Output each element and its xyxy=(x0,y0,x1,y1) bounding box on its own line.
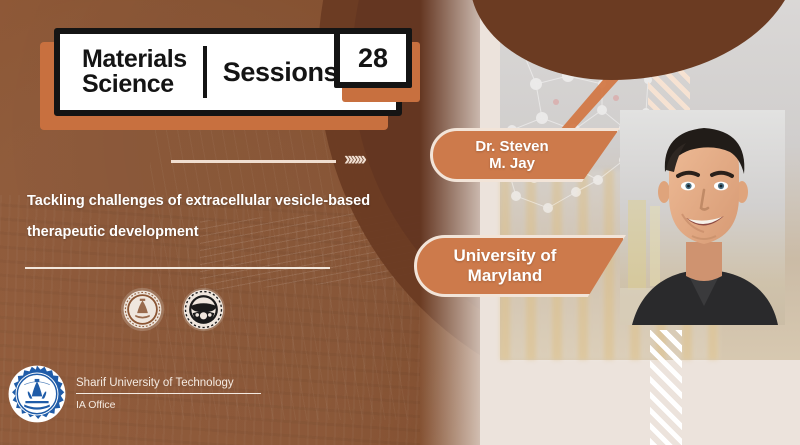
header-rule xyxy=(171,160,336,163)
talk-title-line-1: Tackling challenges of extracellular ves… xyxy=(27,186,417,217)
session-number-value: 28 xyxy=(358,43,388,74)
materials-science-sessions-logo: Materials Science Sessions 28 xyxy=(40,28,430,140)
talk-title: Tackling challenges of extracellular ves… xyxy=(27,186,417,248)
affiliation-line-2: Maryland xyxy=(454,266,557,286)
logo-right-text: Sessions xyxy=(223,57,338,88)
talk-title-line-2: therapeutic development xyxy=(27,217,417,248)
sharif-university-emblem xyxy=(120,287,165,332)
speaker-portrait xyxy=(620,110,785,325)
speaker-name-line-1: Dr. Steven xyxy=(475,138,548,155)
footer-organization: Sharif University of Technology xyxy=(76,377,261,393)
sharif-university-logo-icon xyxy=(8,365,66,423)
logo-divider xyxy=(203,46,207,98)
speaker-name-line-2: M. Jay xyxy=(475,155,548,172)
emblem-group xyxy=(120,287,226,332)
diagonal-stripes-bottom xyxy=(650,330,682,445)
logo-line-2: Science xyxy=(82,72,187,98)
chevron-right-icon: ›››››› xyxy=(344,150,364,169)
footer: Sharif University of Technology IA Offic… xyxy=(8,365,261,423)
logo-line-1: Materials xyxy=(82,47,187,73)
affiliation-line-1: University of xyxy=(454,246,557,266)
footer-text: Sharif University of Technology IA Offic… xyxy=(76,377,261,412)
materials-science-department-emblem xyxy=(181,287,226,332)
logo-left-text: Materials Science xyxy=(60,47,187,98)
footer-office: IA Office xyxy=(76,394,261,411)
title-divider xyxy=(25,267,330,269)
session-poster: Materials Science Sessions 28 ›››››› Tac… xyxy=(0,0,800,445)
session-number-badge: 28 xyxy=(334,28,412,88)
